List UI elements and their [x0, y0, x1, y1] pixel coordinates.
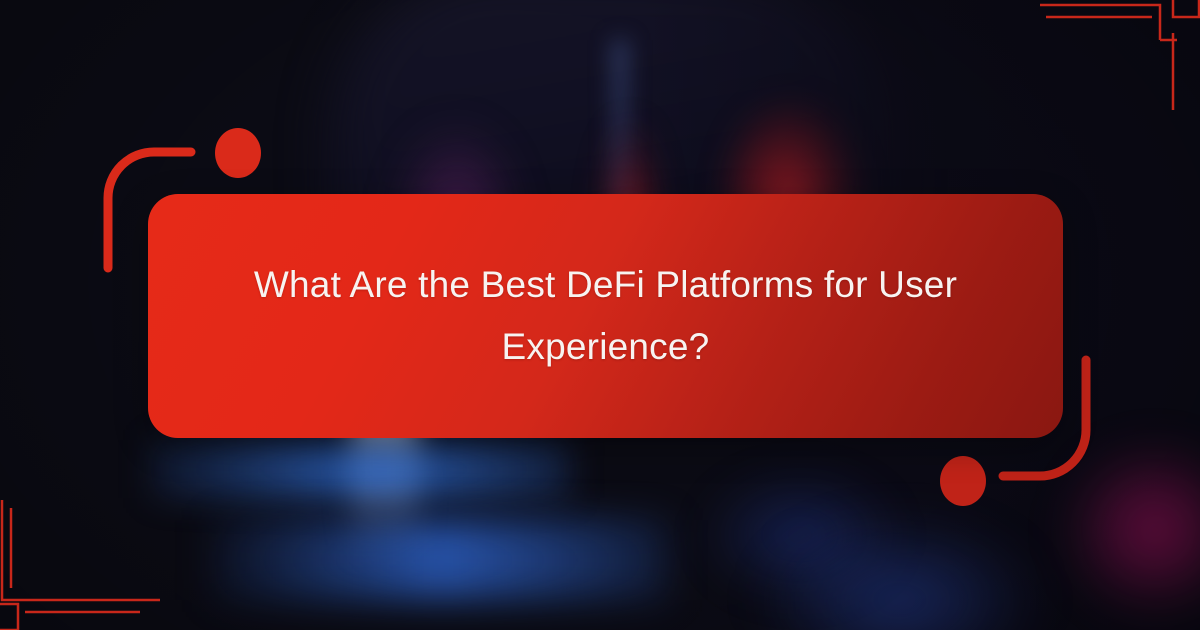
title-card: What Are the Best DeFi Platforms for Use… — [148, 194, 1063, 438]
accent-dot-bottom-right — [940, 456, 986, 506]
page-title: What Are the Best DeFi Platforms for Use… — [226, 254, 986, 378]
circuit-lines-bottom-left-icon — [0, 500, 160, 630]
share-banner: What Are the Best DeFi Platforms for Use… — [0, 0, 1200, 630]
circuit-lines-top-right-icon — [1040, 0, 1200, 110]
accent-dot-top-left — [215, 128, 261, 178]
